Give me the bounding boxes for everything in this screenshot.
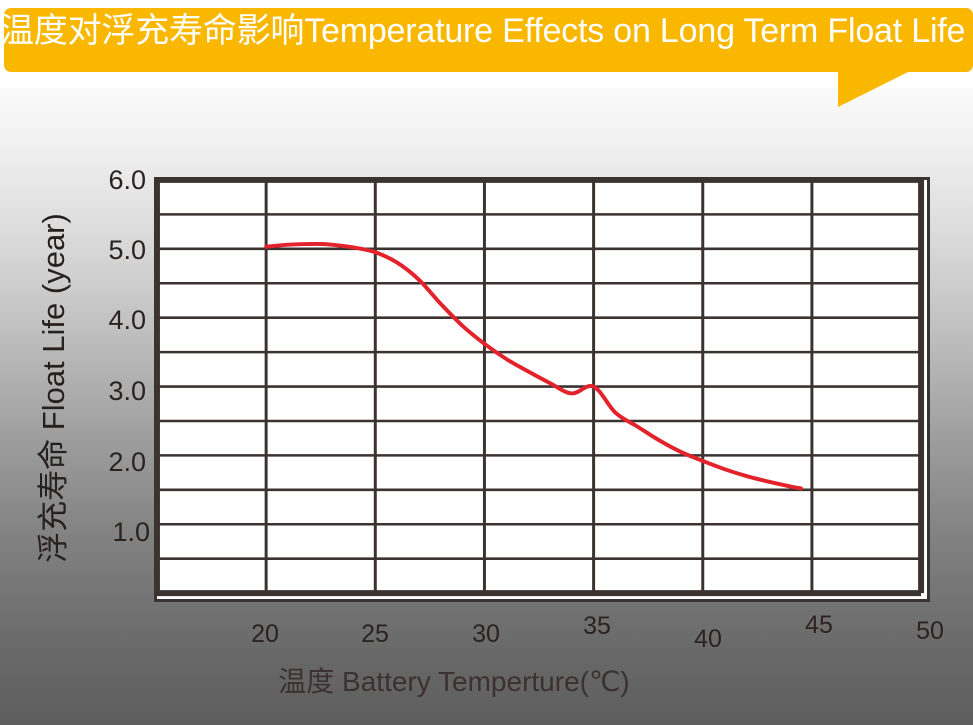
y-tick-label-1: 1.0 xyxy=(86,519,150,546)
plot-svg xyxy=(154,177,930,602)
series-line-float-life xyxy=(266,244,801,489)
title-banner-tail-icon xyxy=(838,71,910,107)
y-tick-label-3: 3.0 xyxy=(82,378,146,405)
x-tick-label-20: 20 xyxy=(235,622,295,647)
y-tick-label-2: 2.0 xyxy=(82,449,146,476)
grid-lines xyxy=(157,178,921,594)
data-series-group xyxy=(266,244,801,489)
y-axis-title: 浮充寿命 Float Life (year) xyxy=(36,138,72,638)
plot-area xyxy=(154,177,930,602)
chart-title: 温度对浮充寿命影响Temperature Effects on Long Ter… xyxy=(0,9,973,53)
x-tick-label-45: 45 xyxy=(789,613,849,638)
y-tick-label-6: 6.0 xyxy=(82,167,146,194)
y-tick-label-5: 5.0 xyxy=(82,237,146,264)
x-tick-label-40: 40 xyxy=(678,627,738,652)
y-tick-label-4: 4.0 xyxy=(82,307,146,334)
x-tick-label-50: 50 xyxy=(900,619,960,644)
x-tick-label-30: 30 xyxy=(456,622,516,647)
chart-page: 温度对浮充寿命影响Temperature Effects on Long Ter… xyxy=(0,0,973,725)
x-tick-label-35: 35 xyxy=(567,614,627,639)
x-axis-title: 温度 Battery Temperture(℃) xyxy=(154,666,754,698)
x-tick-label-25: 25 xyxy=(345,622,405,647)
